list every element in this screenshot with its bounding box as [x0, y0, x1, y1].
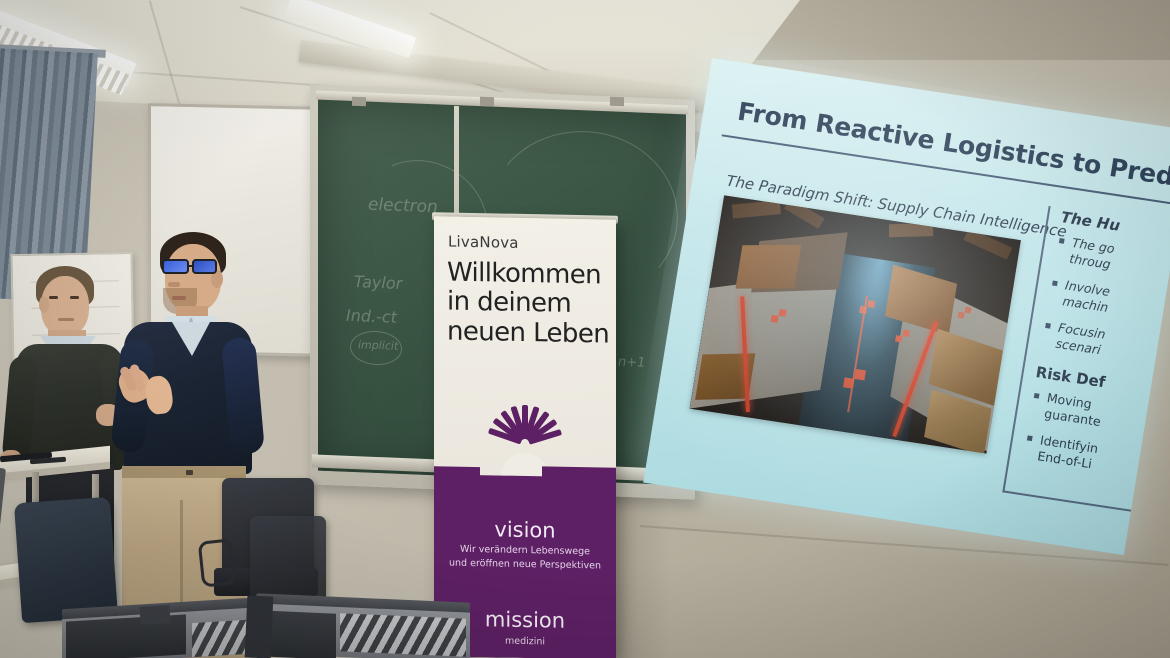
- chair-armrest: [198, 538, 237, 587]
- banner-vision-text: Wir verändern Lebenswegeund eröffnen neu…: [444, 542, 606, 573]
- banner-step: [434, 466, 480, 479]
- banner-headline: Willkommenin deinemneuen Leben: [447, 259, 613, 350]
- presentation-slide: From Reactive Logistics to Predict The P…: [643, 58, 1170, 555]
- banner-step: [542, 466, 616, 481]
- chalkboard-clip: [610, 97, 624, 107]
- livanova-brand-text: LivaNova: [448, 233, 519, 252]
- slide-bullet: IdentifyinEnd-of-Li: [1021, 430, 1170, 486]
- slide-bullet: Focusinscenari: [1040, 318, 1170, 374]
- projection-screen: From Reactive Logistics to Predict The P…: [690, 34, 1170, 534]
- chair-navy[interactable]: [14, 497, 118, 623]
- chair-black-back[interactable]: [250, 516, 326, 602]
- livanova-rollup-banner: LivaNova Willkommenin deinemneuen Leben …: [434, 216, 616, 658]
- classroom-photo-scene: electron harmoni Taylor Ind.-ct implicit…: [0, 0, 1170, 658]
- slide-photo-warehouse: [690, 195, 1021, 453]
- slide-bottom-rule: [1002, 490, 1170, 518]
- chalkboard-clip: [480, 97, 494, 107]
- banner-vision-label: vision: [434, 516, 616, 543]
- eyeglasses-icon: [162, 259, 220, 274]
- chalkboard-clip: [352, 97, 366, 107]
